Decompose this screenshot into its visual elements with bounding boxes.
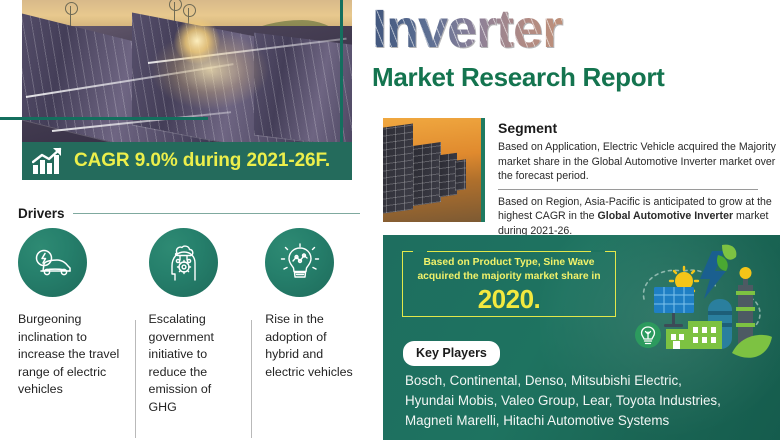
drivers-header: Drivers [18, 206, 360, 221]
solar-panel-graphic [383, 123, 413, 214]
cagr-label: CAGR 9.0% during 2021-26F. [74, 150, 330, 172]
product-type-year: 2020. [409, 284, 609, 315]
leaf-icon [722, 245, 736, 260]
drivers-divider [73, 213, 360, 215]
key-players-line-3: Magneti Marelli, Hitachi Automotive Syst… [405, 411, 765, 431]
segment-photo [383, 118, 485, 222]
green-energy-illustration [626, 237, 778, 369]
callout-notch-left [413, 250, 427, 252]
accent-rule-horizontal [0, 117, 208, 120]
segment-p2-bold: Global Automotive Inverter [598, 210, 734, 222]
driver-label-1: Burgeoning inclination to increase the t… [18, 311, 125, 399]
segment-body: Segment Based on Application, Electric V… [485, 118, 777, 228]
driver-label-3: Rise in the adoption of hybrid and elect… [265, 311, 358, 381]
callout-notch-right [591, 250, 605, 252]
accent-rule-vertical [340, 0, 343, 146]
driver-icon-badge-3 [265, 228, 334, 297]
key-players-line-1: Bosch, Continental, Denso, Mitsubishi El… [405, 371, 765, 391]
product-type-line-1: Based on Product Type, Sine Wave [409, 256, 609, 270]
driver-item-2: Escalating government initiative to redu… [135, 228, 252, 440]
page-title: Inverter [372, 2, 776, 56]
product-type-callout: Based on Product Type, Sine Wave acquire… [402, 251, 616, 317]
cagr-banner: CAGR 9.0% during 2021-26F. [22, 142, 352, 180]
product-type-line-2: acquired the majority market share in [409, 270, 609, 284]
hero-solar-photo [22, 0, 352, 142]
segment-heading: Segment [498, 120, 777, 136]
key-players-line-2: Hyundai Mobis, Valeo Group, Lear, Toyota… [405, 391, 765, 411]
infographic-root: CAGR 9.0% during 2021-26F. Drivers [0, 0, 780, 440]
driver-label-2: Escalating government initiative to redu… [149, 311, 242, 417]
key-players-list: Bosch, Continental, Denso, Mitsubishi El… [405, 371, 765, 430]
driver-separator [135, 320, 136, 438]
electric-car-icon [32, 247, 74, 279]
segment-divider [498, 189, 758, 190]
solar-panel-graphic [413, 142, 441, 206]
key-players-label: Key Players [416, 346, 487, 360]
segment-block: Segment Based on Application, Electric V… [383, 118, 777, 228]
solar-panel-graphic [455, 159, 466, 191]
report-title-block: Inverter Market Research Report [372, 2, 776, 93]
driver-icon-badge-1 [18, 228, 87, 297]
segment-paragraph-1: Based on Application, Electric Vehicle a… [498, 140, 777, 184]
driver-icon-badge-2 [149, 228, 218, 297]
driver-separator [251, 320, 252, 438]
driver-item-1: Burgeoning inclination to increase the t… [18, 228, 135, 440]
key-players-badge: Key Players [403, 341, 500, 366]
sun-flare [174, 18, 220, 64]
lightbulb-icon [280, 243, 320, 283]
drivers-grid: Burgeoning inclination to increase the t… [18, 228, 368, 440]
head-gear-idea-icon [164, 244, 202, 282]
bar-chart-growth-icon [32, 147, 66, 175]
segment-paragraph-2: Based on Region, Asia-Pacific is anticip… [498, 195, 777, 239]
drivers-heading: Drivers [18, 206, 65, 221]
green-summary-panel: Based on Product Type, Sine Wave acquire… [383, 235, 780, 440]
eco-bulb-icon [635, 322, 661, 348]
page-subtitle: Market Research Report [372, 62, 776, 93]
driver-item-3: Rise in the adoption of hybrid and elect… [251, 228, 368, 440]
